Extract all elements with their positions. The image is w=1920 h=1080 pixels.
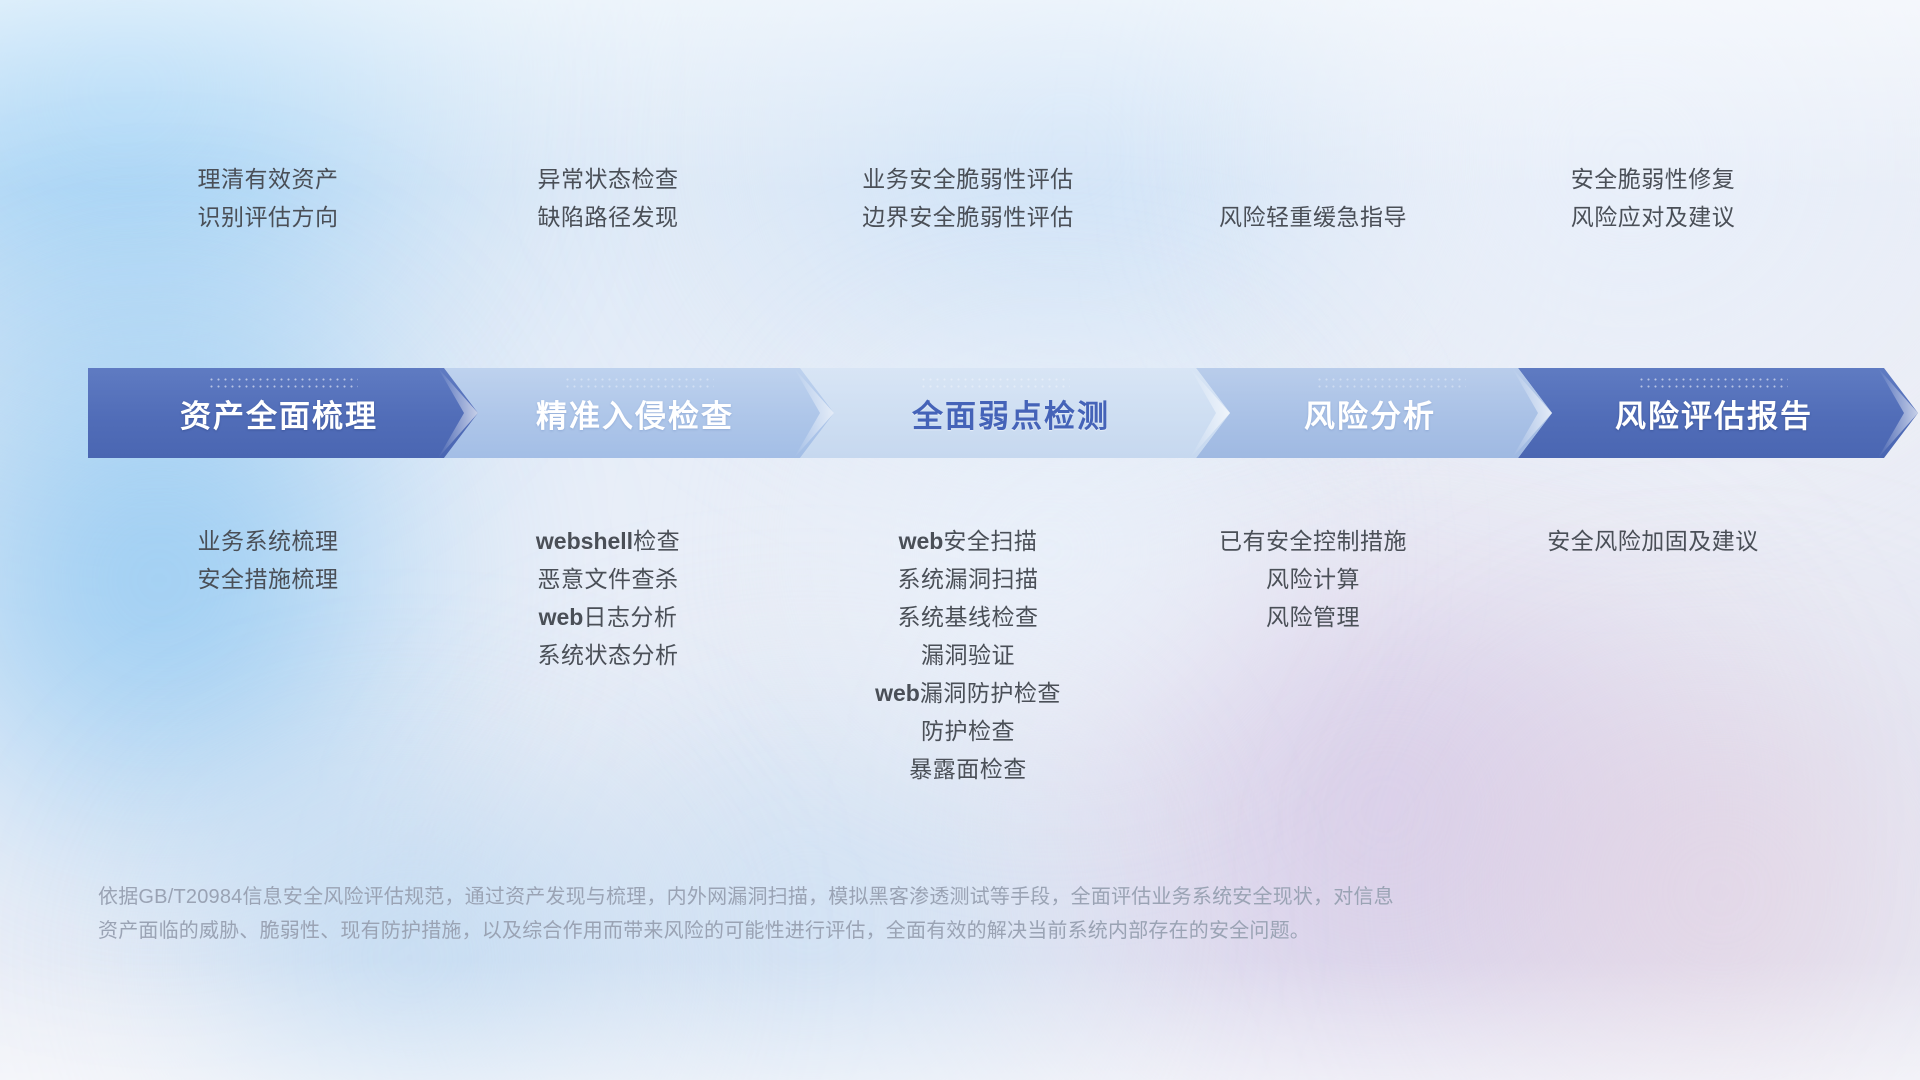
process-arrow-label: 资产全面梳理	[88, 391, 478, 436]
stage-bottom-list-risk-report: 安全风险加固及建议	[1458, 522, 1848, 560]
footer-description: 依据GB/T20984信息安全风险评估规范，通过资产发现与梳理，内外网漏洞扫描，…	[98, 880, 1618, 948]
stage-top-item: 安全脆弱性修复	[1458, 160, 1848, 198]
stage-bottom-item-text: 安全扫描	[943, 528, 1037, 554]
stage-bottom-item-text: 暴露面检查	[909, 756, 1027, 782]
stage-top-list-risk-analysis: 风险轻重缓急指导	[1148, 198, 1478, 236]
process-arrow-intrusion-check[interactable]: 精准入侵检查	[444, 368, 834, 458]
stage-bottom-item: 已有安全控制措施	[1148, 522, 1478, 560]
stage-bottom-item-latin: web	[539, 604, 584, 630]
stage-bottom-item-text: 漏洞防护检查	[920, 680, 1061, 706]
stage-bottom-item: 恶意文件查杀	[428, 560, 788, 598]
stage-bottom-item-text: 风险计算	[1266, 566, 1360, 592]
stage-bottom-item-text: 恶意文件查杀	[538, 566, 679, 592]
stage-bottom-item-text: 检查	[633, 528, 680, 554]
stage-bottom-item: web漏洞防护检查	[768, 674, 1168, 712]
stage-top-list-intrusion-check: 异常状态检查缺陷路径发现	[428, 160, 788, 236]
stage-bottom-item-text: 系统基线检查	[898, 604, 1039, 630]
stage-bottom-list-asset-inventory: 业务系统梳理安全措施梳理	[88, 522, 448, 598]
stage-top-item: 识别评估方向	[88, 198, 448, 236]
stage-top-list-asset-inventory: 理清有效资产识别评估方向	[88, 160, 448, 236]
stage-bottom-item-latin: webshell	[536, 528, 633, 554]
process-arrow-asset-inventory[interactable]: 资产全面梳理	[88, 368, 478, 458]
stage-bottom-item-latin: web	[875, 680, 920, 706]
stage-bottom-list-intrusion-check: webshell检查恶意文件查杀web日志分析系统状态分析	[428, 522, 788, 674]
stage-top-item: 理清有效资产	[88, 160, 448, 198]
process-arrow-label: 风险分析	[1196, 391, 1552, 436]
stage-bottom-item-text: 安全措施梳理	[198, 566, 339, 592]
stage-top-list-weakness-detection: 业务安全脆弱性评估边界安全脆弱性评估	[768, 160, 1168, 236]
process-arrow-label: 风险评估报告	[1518, 391, 1918, 436]
stage-bottom-item-text: 漏洞验证	[921, 642, 1015, 668]
stage-bottom-list-weakness-detection: web安全扫描系统漏洞扫描系统基线检查漏洞验证web漏洞防护检查防护检查暴露面检…	[768, 522, 1168, 788]
stage-bottom-item-text: 日志分析	[583, 604, 677, 630]
stage-bottom-item: 系统漏洞扫描	[768, 560, 1168, 598]
stage-bottom-item-text: 系统状态分析	[538, 642, 679, 668]
process-arrow-risk-report[interactable]: 风险评估报告	[1518, 368, 1918, 458]
process-arrow-label: 全面弱点检测	[800, 391, 1230, 436]
process-arrow-banner: 资产全面梳理精准入侵检查全面弱点检测风险分析风险评估报告	[88, 368, 1848, 458]
stage-bottom-item: 业务系统梳理	[88, 522, 448, 560]
footer-line-2: 资产面临的威胁、脆弱性、现有防护措施，以及综合作用而带来风险的可能性进行评估，全…	[98, 914, 1618, 948]
stage-bottom-item-text: 安全风险加固及建议	[1547, 528, 1759, 554]
stage-bottom-item: 安全措施梳理	[88, 560, 448, 598]
stage-bottom-item: 风险计算	[1148, 560, 1478, 598]
stage-bottom-item: 系统基线检查	[768, 598, 1168, 636]
stage-bottom-item-latin: web	[899, 528, 944, 554]
process-arrow-label: 精准入侵检查	[444, 391, 834, 436]
stage-bottom-item: web安全扫描	[768, 522, 1168, 560]
stage-top-item: 风险应对及建议	[1458, 198, 1848, 236]
stage-bottom-item-text: 风险管理	[1266, 604, 1360, 630]
stage-bottom-item: 漏洞验证	[768, 636, 1168, 674]
stage-bottom-item: webshell检查	[428, 522, 788, 560]
stage-bottom-item: 系统状态分析	[428, 636, 788, 674]
stage-bottom-list-risk-analysis: 已有安全控制措施风险计算风险管理	[1148, 522, 1478, 636]
stage-top-list-risk-report: 安全脆弱性修复风险应对及建议	[1458, 160, 1848, 236]
stage-top-item: 缺陷路径发现	[428, 198, 788, 236]
stage-top-item: 异常状态检查	[428, 160, 788, 198]
stage-bottom-item: 防护检查	[768, 712, 1168, 750]
footer-line-1: 依据GB/T20984信息安全风险评估规范，通过资产发现与梳理，内外网漏洞扫描，…	[98, 880, 1618, 914]
stage-top-item: 业务安全脆弱性评估	[768, 160, 1168, 198]
stage-top-item: 边界安全脆弱性评估	[768, 198, 1168, 236]
stage-bottom-item: 安全风险加固及建议	[1458, 522, 1848, 560]
process-arrow-risk-analysis[interactable]: 风险分析	[1196, 368, 1552, 458]
stage-bottom-item-text: 已有安全控制措施	[1219, 528, 1407, 554]
stage-bottom-item-text: 防护检查	[921, 718, 1015, 744]
stage-bottom-item-text: 系统漏洞扫描	[898, 566, 1039, 592]
stage-top-item: 风险轻重缓急指导	[1148, 198, 1478, 236]
stage-bottom-item: web日志分析	[428, 598, 788, 636]
stage-bottom-item-text: 业务系统梳理	[198, 528, 339, 554]
stage-bottom-item: 暴露面检查	[768, 750, 1168, 788]
stage-bottom-item: 风险管理	[1148, 598, 1478, 636]
process-arrow-weakness-detection[interactable]: 全面弱点检测	[800, 368, 1230, 458]
